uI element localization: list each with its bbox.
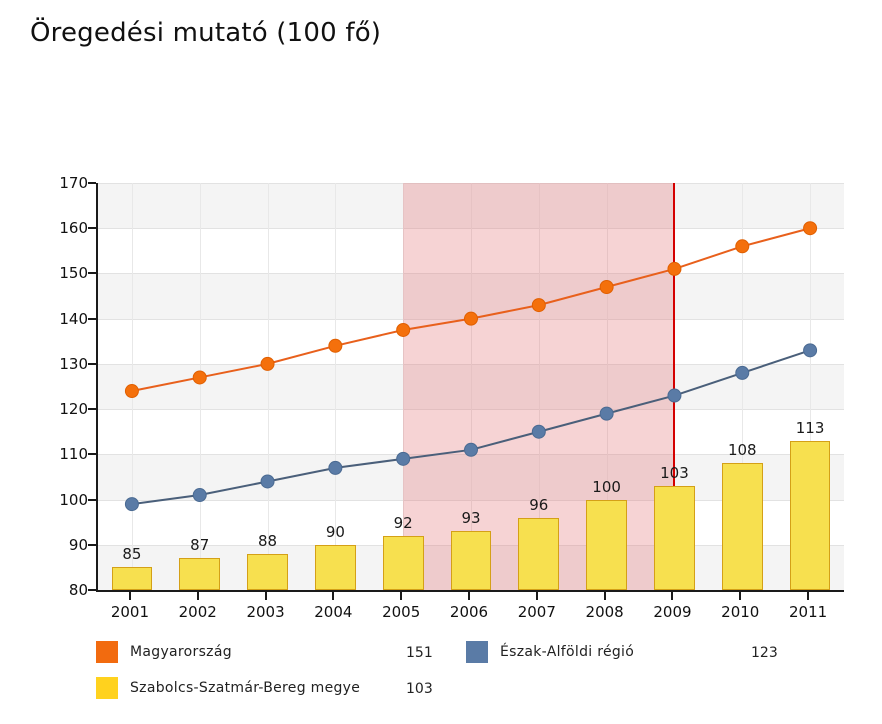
legend-label: Szabolcs-Szatmár-Bereg megye [130, 680, 360, 696]
bar[interactable] [722, 463, 763, 590]
y-axis-tick-label: 140 [42, 310, 88, 328]
x-axis-tick-label: 2005 [382, 603, 420, 621]
x-axis-tick-label: 2002 [179, 603, 217, 621]
x-axis-tick-mark [265, 591, 267, 600]
x-axis-tick-label: 2004 [314, 603, 352, 621]
y-axis-tick-mark [88, 272, 96, 274]
data-point[interactable] [397, 452, 410, 465]
x-axis-tick-mark [604, 591, 606, 600]
bar-value-label: 87 [190, 536, 209, 554]
x-axis-tick-label: 2009 [653, 603, 691, 621]
data-point[interactable] [397, 323, 410, 336]
bar-value-label: 103 [660, 464, 689, 482]
data-point[interactable] [465, 443, 478, 456]
bar[interactable] [654, 486, 695, 590]
x-axis-tick-mark [739, 591, 741, 600]
x-axis-tick-mark [332, 591, 334, 600]
legend-value: 103 [406, 681, 433, 697]
bar[interactable] [112, 567, 153, 590]
bar-value-label: 92 [394, 514, 413, 532]
data-point[interactable] [261, 357, 274, 370]
data-point[interactable] [668, 262, 681, 275]
data-point[interactable] [193, 371, 206, 384]
y-axis-tick-mark [88, 182, 96, 184]
y-axis: 1701601501401301201101009080 [40, 183, 88, 590]
bar-value-label: 96 [529, 496, 548, 514]
y-axis-tick-mark [88, 499, 96, 501]
bar-value-label: 88 [258, 532, 277, 550]
y-axis-tick-mark [88, 453, 96, 455]
x-axis-ticks [96, 591, 842, 601]
legend-label: Magyarország [130, 644, 232, 660]
bar[interactable] [247, 554, 288, 590]
x-axis-tick-mark [671, 591, 673, 600]
data-point[interactable] [532, 425, 545, 438]
x-axis-tick-label: 2008 [586, 603, 624, 621]
chart-legend: Magyarország151Észak-Alföldi régió123Sza… [96, 636, 856, 708]
y-axis-tick-label: 100 [42, 491, 88, 509]
legend-color-swatch [96, 641, 118, 663]
page-title: Öregedési mutató (100 fő) [30, 18, 381, 48]
data-point[interactable] [804, 222, 817, 235]
data-point[interactable] [465, 312, 478, 325]
y-axis-tick-mark [88, 408, 96, 410]
bar-value-label: 85 [122, 545, 141, 563]
bar[interactable] [179, 558, 220, 590]
bar[interactable] [451, 531, 492, 590]
y-axis-tick-mark [88, 363, 96, 365]
bar-value-label: 93 [461, 509, 480, 527]
legend-item[interactable]: Magyarország [96, 640, 232, 664]
x-axis-tick-mark [129, 591, 131, 600]
y-axis-tick-label: 150 [42, 264, 88, 282]
x-axis-tick-mark [807, 591, 809, 600]
x-axis-tick-mark [197, 591, 199, 600]
series-line [132, 228, 810, 391]
data-point[interactable] [600, 407, 613, 420]
x-axis-tick-label: 2011 [789, 603, 827, 621]
data-point[interactable] [125, 385, 138, 398]
x-axis-tick-label: 2007 [518, 603, 556, 621]
series-line [132, 350, 810, 504]
data-point[interactable] [668, 389, 681, 402]
y-axis-tick-mark [88, 544, 96, 546]
data-point[interactable] [329, 339, 342, 352]
x-axis-tick-label: 2006 [450, 603, 488, 621]
x-axis-tick-label: 2010 [721, 603, 759, 621]
x-axis-tick-mark [468, 591, 470, 600]
data-point[interactable] [329, 461, 342, 474]
legend-color-swatch [466, 641, 488, 663]
bar[interactable] [790, 441, 831, 590]
data-point[interactable] [600, 281, 613, 294]
legend-label: Észak-Alföldi régió [500, 644, 634, 660]
x-axis-tick-label: 2001 [111, 603, 149, 621]
bar-value-label: 90 [326, 523, 345, 541]
x-axis-tick-mark [400, 591, 402, 600]
bar[interactable] [315, 545, 356, 590]
y-axis-tick-label: 130 [42, 355, 88, 373]
y-axis-tick-label: 160 [42, 219, 88, 237]
data-point[interactable] [736, 240, 749, 253]
data-point[interactable] [532, 299, 545, 312]
bar[interactable] [383, 536, 424, 590]
legend-value: 123 [751, 645, 778, 661]
x-axis-tick-mark [536, 591, 538, 600]
bar[interactable] [586, 500, 627, 590]
y-axis-tick-label: 90 [42, 536, 88, 554]
data-point[interactable] [125, 498, 138, 511]
bar-value-label: 108 [728, 441, 757, 459]
data-point[interactable] [193, 489, 206, 502]
x-axis-tick-label: 2003 [246, 603, 284, 621]
y-axis-tick-mark [88, 589, 96, 591]
x-axis-labels: 2001200220032004200520062007200820092010… [96, 603, 842, 625]
legend-item[interactable]: Szabolcs-Szatmár-Bereg megye [96, 676, 360, 700]
plot-area: 85878890929396100103108113 [96, 183, 844, 592]
legend-value: 151 [406, 645, 433, 661]
y-axis-tick-mark [88, 318, 96, 320]
data-point[interactable] [736, 366, 749, 379]
bar-value-label: 113 [796, 419, 825, 437]
data-point[interactable] [261, 475, 274, 488]
y-axis-tick-label: 80 [42, 581, 88, 599]
data-point[interactable] [804, 344, 817, 357]
y-axis-tick-label: 170 [42, 174, 88, 192]
y-axis-tick-label: 110 [42, 445, 88, 463]
bar[interactable] [518, 518, 559, 590]
legend-color-swatch [96, 677, 118, 699]
y-axis-tick-label: 120 [42, 400, 88, 418]
bar-value-label: 100 [592, 478, 621, 496]
legend-item[interactable]: Észak-Alföldi régió [466, 640, 634, 664]
y-axis-tick-mark [88, 227, 96, 229]
